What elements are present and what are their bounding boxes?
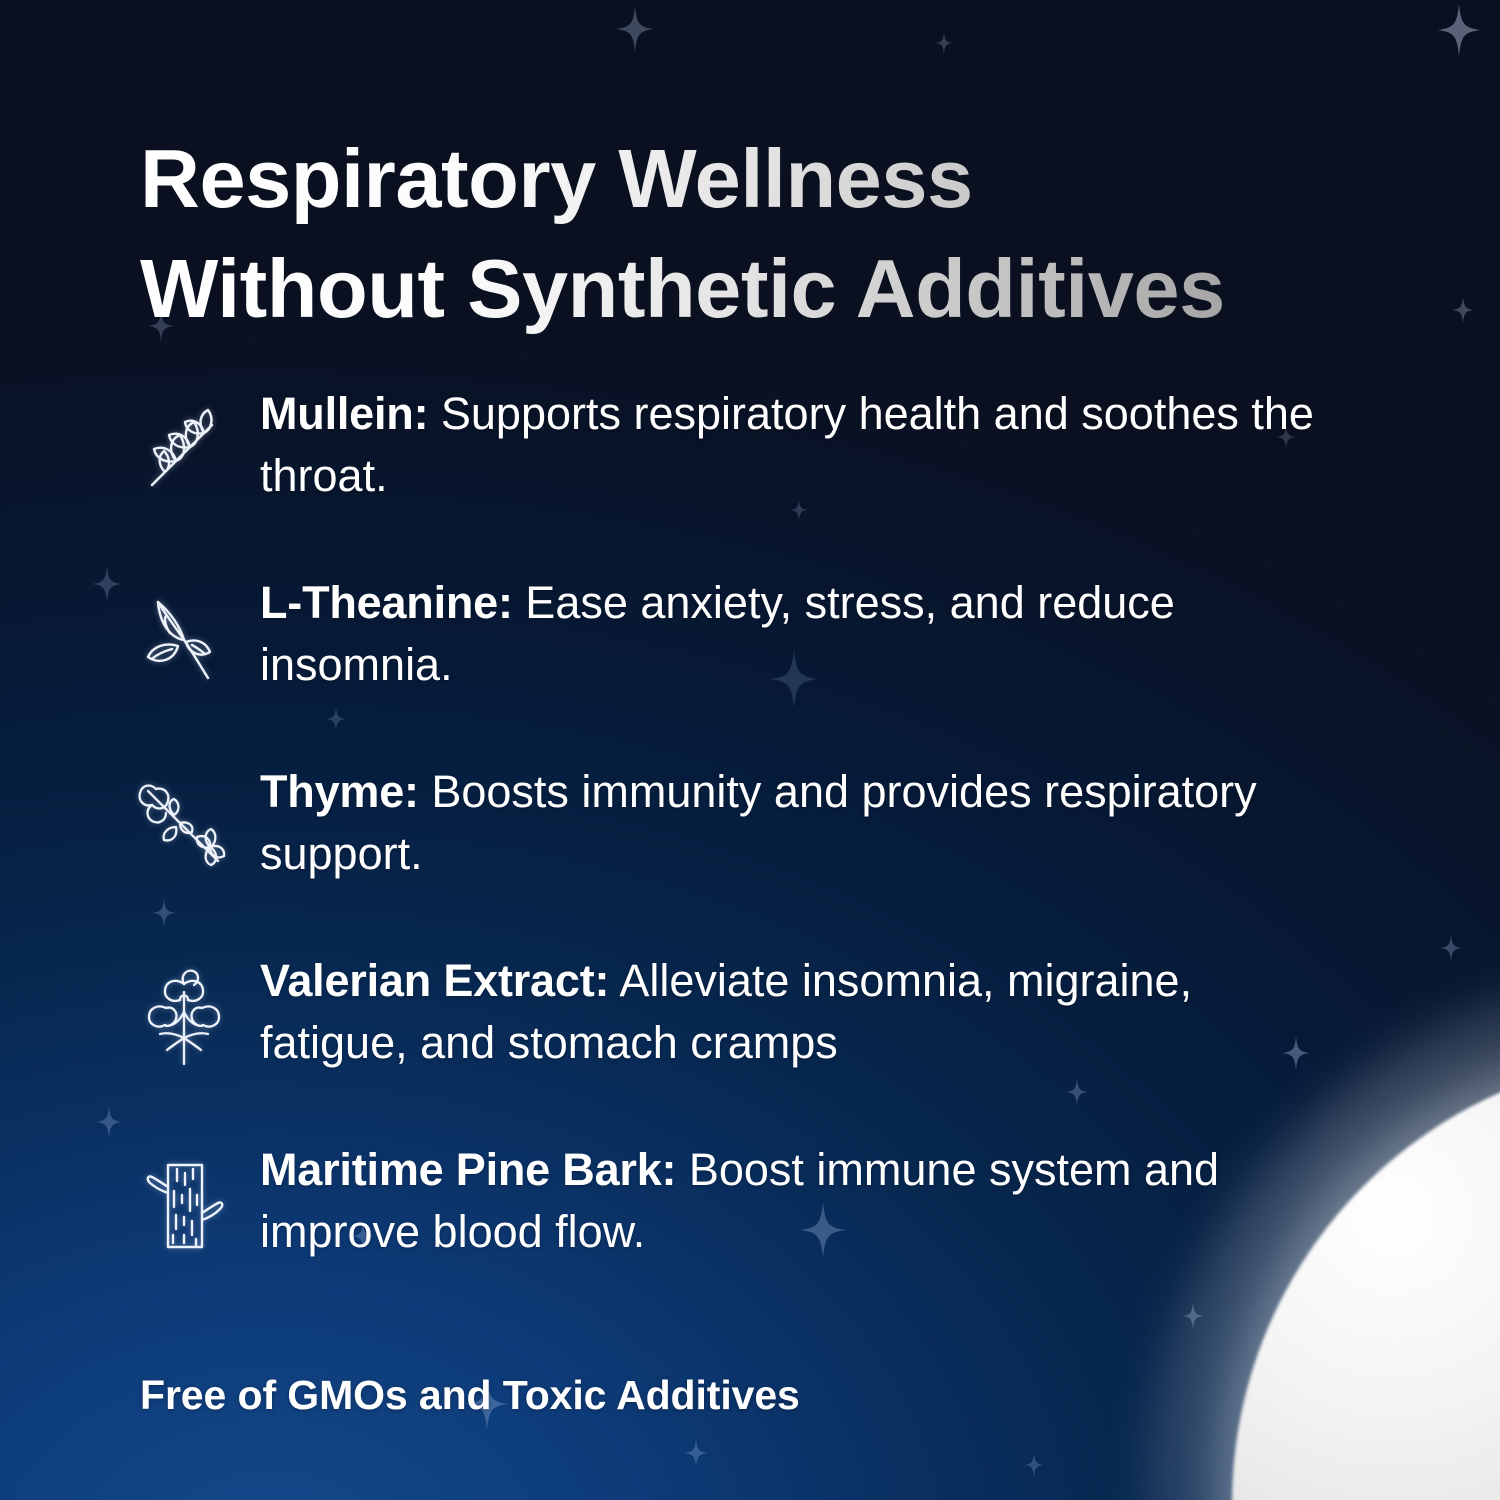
benefits-list: Mullein: Supports respiratory health and… <box>0 383 1500 1328</box>
tea-leaf-sprig-icon <box>132 586 236 690</box>
list-item-text: L-Theanine: Ease anxiety, stress, and re… <box>260 572 1340 695</box>
poster-canvas: Respiratory Wellness Without Synthetic A… <box>0 0 1500 1500</box>
list-item: Mullein: Supports respiratory health and… <box>0 383 1500 543</box>
mullein-leaf-branch-icon <box>132 397 236 501</box>
list-item-text: Maritime Pine Bark: Boost immune system … <box>260 1139 1340 1262</box>
list-item: Maritime Pine Bark: Boost immune system … <box>0 1139 1500 1299</box>
list-item: Valerian Extract: Alleviate insomnia, mi… <box>0 950 1500 1110</box>
pine-bark-trunk-icon <box>132 1153 236 1257</box>
valerian-flower-icon <box>132 964 236 1068</box>
list-item-text: Thyme: Boosts immunity and provides resp… <box>260 761 1340 884</box>
list-item-title: Mullein: <box>260 388 428 439</box>
poster-content: Respiratory Wellness Without Synthetic A… <box>0 0 1500 1500</box>
page-title-line-2: Without Synthetic Additives <box>140 234 1430 344</box>
list-item: Thyme: Boosts immunity and provides resp… <box>0 761 1500 921</box>
list-item-title: Valerian Extract: <box>260 955 609 1006</box>
list-item-title: Thyme: <box>260 766 419 817</box>
page-title-line-1: Respiratory Wellness <box>140 124 1430 234</box>
thyme-flower-sprig-icon <box>132 775 236 879</box>
list-item-title: L-Theanine: <box>260 577 513 628</box>
list-item: L-Theanine: Ease anxiety, stress, and re… <box>0 572 1500 732</box>
list-item-text: Mullein: Supports respiratory health and… <box>260 383 1340 506</box>
list-item-text: Valerian Extract: Alleviate insomnia, mi… <box>260 950 1340 1073</box>
footer-note: Free of GMOs and Toxic Additives <box>140 1372 800 1419</box>
list-item-title: Maritime Pine Bark: <box>260 1144 676 1195</box>
page-title: Respiratory Wellness Without Synthetic A… <box>140 124 1430 345</box>
